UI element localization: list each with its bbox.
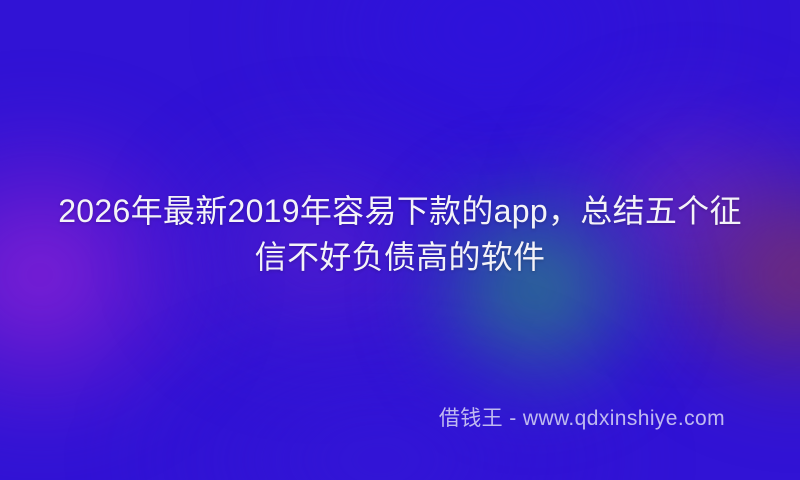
site-watermark: 借钱王 - www.qdxinshiye.com [439,405,725,433]
banner-headline: 2026年最新2019年容易下款的app，总结五个征信不好负债高的软件 [0,188,800,280]
promo-banner: 2026年最新2019年容易下款的app，总结五个征信不好负债高的软件 借钱王 … [0,0,800,480]
background-glow-top-sheen [260,0,720,180]
